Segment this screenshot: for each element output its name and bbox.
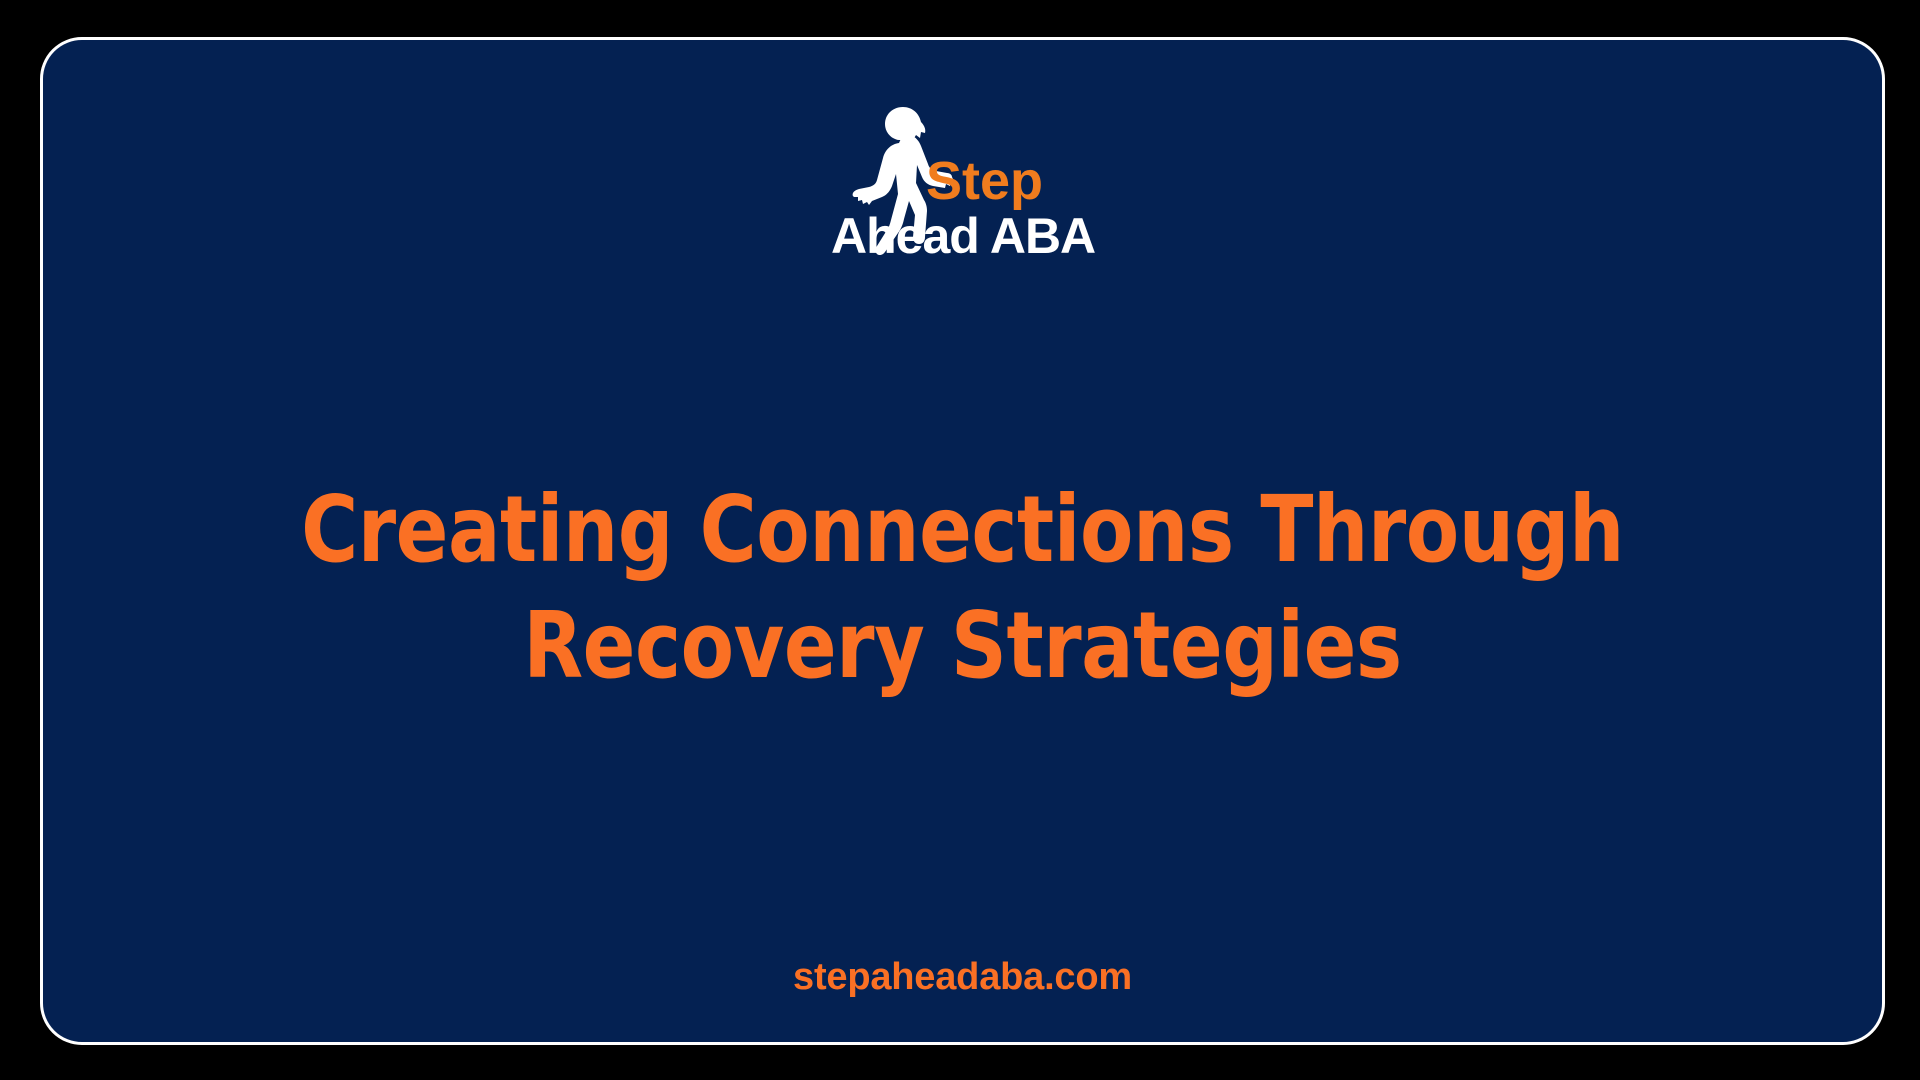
headline-line-2: Recovery Strategies [211, 588, 1714, 704]
slide-headline: Creating Connections Through Recovery St… [98, 472, 1827, 704]
content-card: Step Ahead ABA Creating Connections Thro… [40, 37, 1885, 1045]
slide-canvas: Step Ahead ABA Creating Connections Thro… [0, 0, 1920, 1080]
step-ahead-aba-logo: Step Ahead ABA [829, 95, 1097, 265]
headline-line-1: Creating Connections Through [211, 472, 1714, 588]
site-url[interactable]: stepaheadaba.com [43, 956, 1882, 999]
logo-word-step: Step [926, 151, 1043, 211]
logo-word-ahead-aba: Ahead ABA [831, 208, 1095, 264]
walking-child-silhouette-icon: Step Ahead ABA [829, 95, 1097, 265]
